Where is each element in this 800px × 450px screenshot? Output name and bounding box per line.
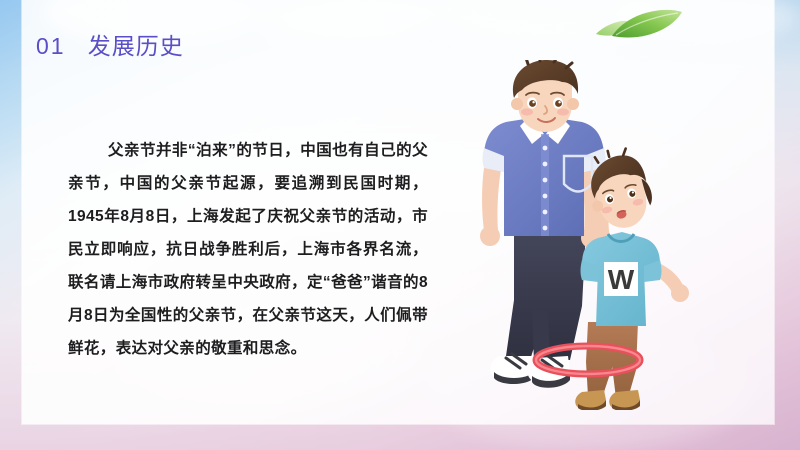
father-and-son-illustration: W [470,60,730,410]
slide-canvas: 01 发展历史 父亲节并非“泊来”的节日，中国也有自己的父亲节，中国的父亲节起源… [0,0,800,450]
father-legs [506,230,586,362]
section-number: 01 [36,33,66,59]
page-title: 01 发展历史 [36,27,184,61]
section-title-text: 发展历史 [88,33,184,59]
leaves-icon [578,2,708,54]
child-shirt-letter: W [608,264,635,295]
child-shirt: W [581,232,662,326]
body-paragraph: 父亲节并非“泊来”的节日，中国也有自己的父亲节，中国的父亲节起源，要追溯到民国时… [68,134,428,365]
